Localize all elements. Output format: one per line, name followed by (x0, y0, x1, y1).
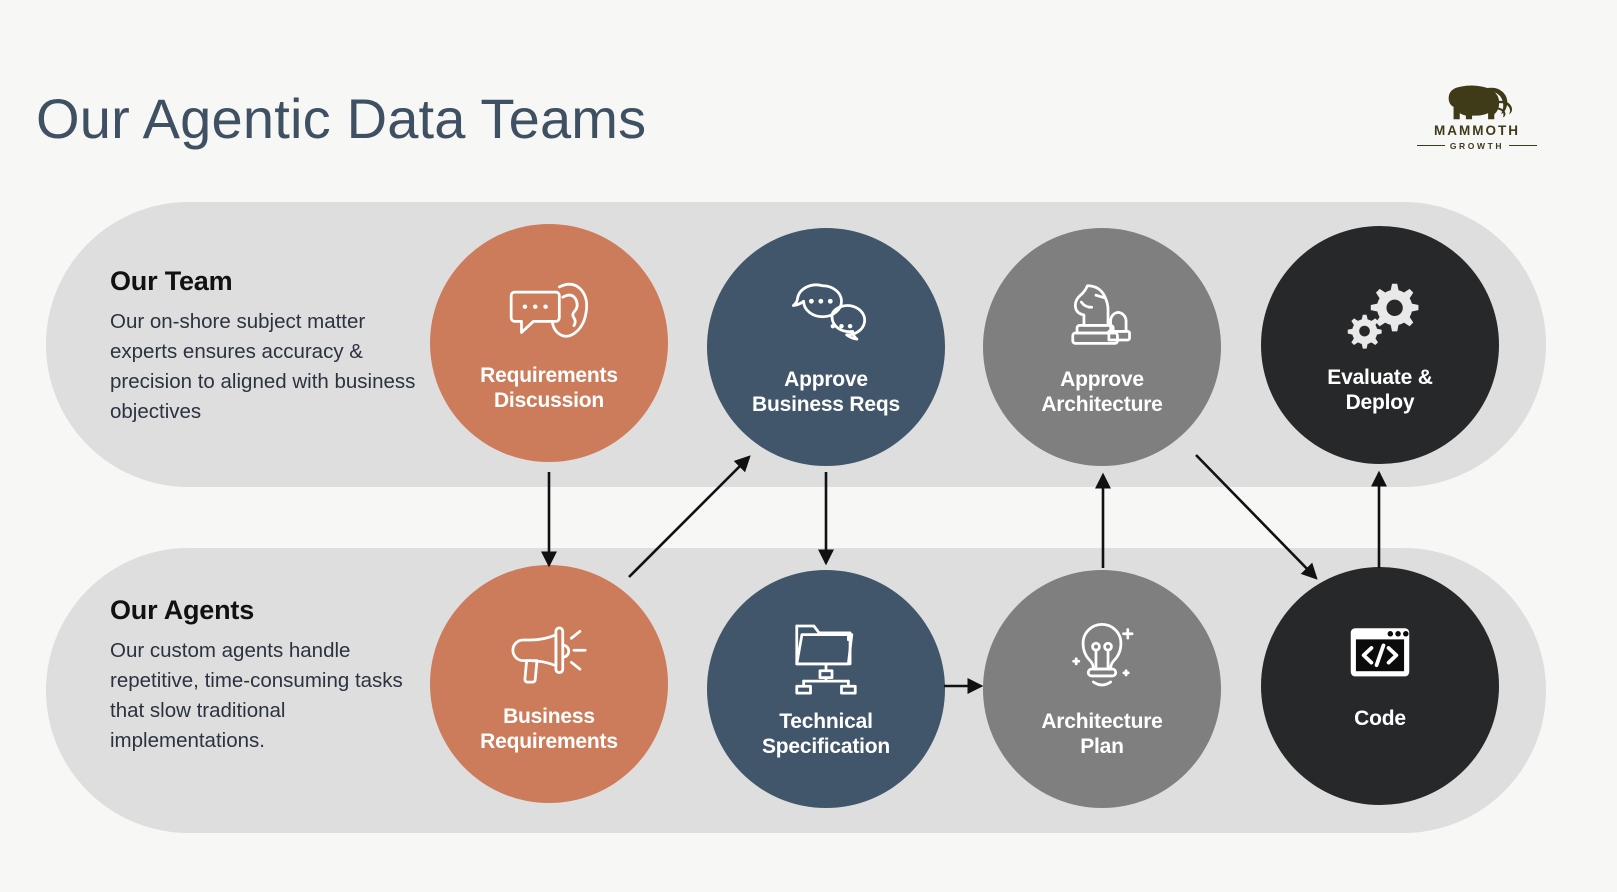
node-label: Approve Business Reqs (742, 368, 910, 418)
node-architecture-plan[interactable]: Architecture Plan (983, 570, 1221, 808)
row-description-team: Our on-shore subject matter experts ensu… (110, 307, 430, 428)
row-description-agents: Our custom agents handle repetitive, tim… (110, 636, 430, 757)
brand-rule-left (1417, 145, 1445, 146)
node-label: Requirements Discussion (470, 364, 628, 414)
mammoth-icon (1440, 82, 1514, 122)
brand-name: MAMMOTH (1434, 124, 1520, 138)
brand-subtitle-row: GROWTH (1417, 142, 1537, 151)
page-title: Our Agentic Data Teams (36, 86, 646, 151)
brand-rule-right (1509, 145, 1537, 146)
node-evaluate-deploy[interactable]: Evaluate & Deploy (1261, 226, 1499, 464)
brand-subtitle: GROWTH (1450, 142, 1504, 151)
speech-bubble-ear-icon (506, 268, 592, 354)
brand-logo: MAMMOTH GROWTH (1417, 82, 1537, 160)
node-code[interactable]: Code (1261, 567, 1499, 805)
node-label: Technical Specification (752, 710, 900, 760)
code-window-icon (1337, 611, 1423, 697)
row-heading-team: Our Team (110, 266, 430, 297)
node-label: Evaluate & Deploy (1317, 366, 1442, 416)
node-business-requirements[interactable]: Business Requirements (430, 565, 668, 803)
node-label: Approve Architecture (1031, 368, 1172, 418)
node-requirements-discussion[interactable]: Requirements Discussion (430, 224, 668, 462)
row-label-agents: Our Agents Our custom agents handle repe… (110, 595, 430, 757)
node-approve-business-reqs[interactable]: Approve Business Reqs (707, 228, 945, 466)
folder-sitemap-icon (783, 614, 869, 700)
megaphone-icon (506, 609, 592, 695)
slide-canvas: Our Agentic Data Teams MAMMOTH GROWTH Ou… (0, 0, 1617, 892)
chess-knight-icon (1059, 272, 1145, 358)
gears-icon (1337, 270, 1423, 356)
row-heading-agents: Our Agents (110, 595, 430, 626)
node-label: Architecture Plan (1031, 710, 1172, 760)
node-label: Code (1344, 707, 1416, 732)
node-approve-architecture[interactable]: Approve Architecture (983, 228, 1221, 466)
row-label-team: Our Team Our on-shore subject matter exp… (110, 266, 430, 428)
lightbulb-icon (1059, 614, 1145, 700)
two-speech-bubbles-icon (783, 272, 869, 358)
node-technical-specification[interactable]: Technical Specification (707, 570, 945, 808)
node-label: Business Requirements (470, 705, 628, 755)
